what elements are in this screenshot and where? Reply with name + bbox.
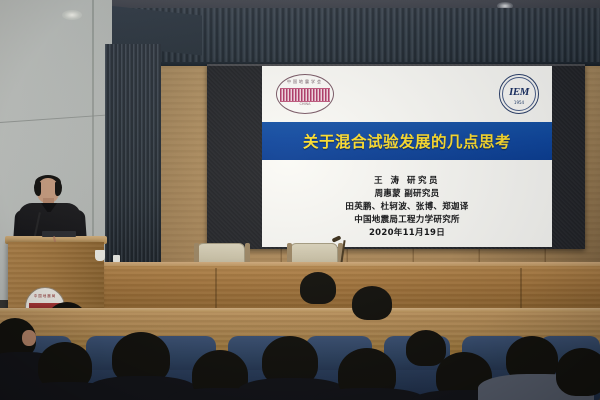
counter-seam (520, 268, 522, 312)
iem-logo-sub: 1954 (500, 100, 538, 105)
iem-logo-icon: IEM 1954 (499, 74, 539, 114)
audience-head (406, 330, 446, 366)
affiliation-line: 中国地震局工程力学研究所 (354, 214, 460, 227)
laptop-icon (42, 231, 76, 237)
institution-seal-left-icon: 中国地震学会 CHINA (276, 74, 334, 114)
stage-counter (100, 266, 600, 314)
seal-bottom-text: CHINA (287, 101, 323, 108)
presentation-slide: 中国地震学会 CHINA IEM 1954 关于混合试验发展的几点思考 王 涛 … (262, 66, 552, 247)
lecture-hall-photo: 中国地震学会 CHINA IEM 1954 关于混合试验发展的几点思考 王 涛 … (0, 0, 600, 400)
author-line: 周惠蒙 副研究员 (375, 188, 440, 201)
slide-header: 中国地震学会 CHINA IEM 1954 (262, 66, 552, 122)
counter-seam (215, 268, 217, 312)
paper-cup-icon (95, 250, 105, 261)
audience-shoulders (314, 388, 424, 400)
seal-top-text: 中国地震学会 (285, 78, 325, 86)
audience-head (300, 272, 336, 304)
presenter-hair-side (34, 182, 41, 196)
slide-author-block: 王 涛 研究员 周惠蒙 副研究员 田英鹏、杜轲波、张博、郑迦译 中国地震局工程力… (262, 160, 552, 247)
ceiling-light-icon (62, 10, 82, 20)
stage-curtain-left-panel (105, 44, 161, 266)
slide-title: 关于混合试验发展的几点思考 (303, 130, 511, 152)
iem-logo-mark: IEM (500, 86, 538, 98)
author-line: 王 涛 研究员 (374, 175, 440, 188)
audience-face (22, 330, 36, 346)
date-line: 2020年11月19日 (369, 227, 445, 240)
author-line: 田英鹏、杜轲波、张博、郑迦译 (345, 201, 468, 214)
audience-head (556, 348, 600, 396)
podium-crest-top-text: 中国地震局 (30, 293, 60, 300)
slide-title-band: 关于混合试验发展的几点思考 (262, 122, 552, 160)
seal-bar-motif (280, 88, 330, 102)
audience-head (352, 286, 392, 320)
